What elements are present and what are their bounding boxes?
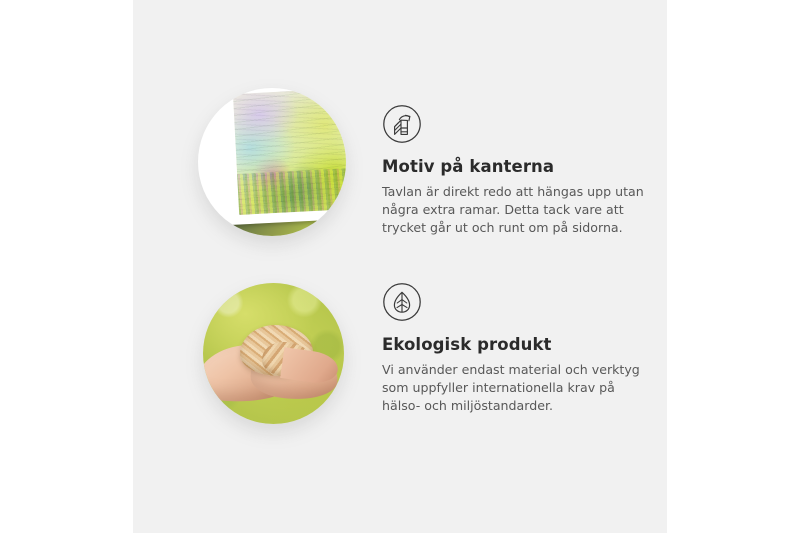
canvas-paint-drip-area: [238, 168, 346, 215]
canvas-wrapped-side-edge: [199, 219, 332, 236]
product-feature-banner: Motiv på kanterna Tavlan är direkt redo …: [0, 0, 800, 533]
feature-text-edges: Motiv på kanterna Tavlan är direkt redo …: [382, 104, 654, 236]
canvas-artwork-face: [233, 88, 346, 215]
feature-title: Motiv på kanterna: [382, 157, 654, 177]
feature-text-eco: Ekologisk produkt Vi använder endast mat…: [382, 282, 654, 414]
feature-description: Vi använder endast material och verktyg …: [382, 361, 644, 415]
feature-title: Ekologisk produkt: [382, 335, 654, 355]
canvas-wrapped-edge-icon: [382, 104, 422, 144]
canvas-print-corner-photo: [198, 88, 346, 236]
hands-with-wood-chips-photo: [203, 283, 344, 424]
leaf-icon: [382, 282, 422, 322]
feature-description: Tavlan är direkt redo att hängas upp uta…: [382, 183, 644, 237]
feature-block-edges: Motiv på kanterna Tavlan är direkt redo …: [133, 60, 667, 260]
feature-block-eco: Ekologisk produkt Vi använder endast mat…: [133, 238, 667, 438]
content-panel: Motiv på kanterna Tavlan är direkt redo …: [133, 0, 667, 533]
